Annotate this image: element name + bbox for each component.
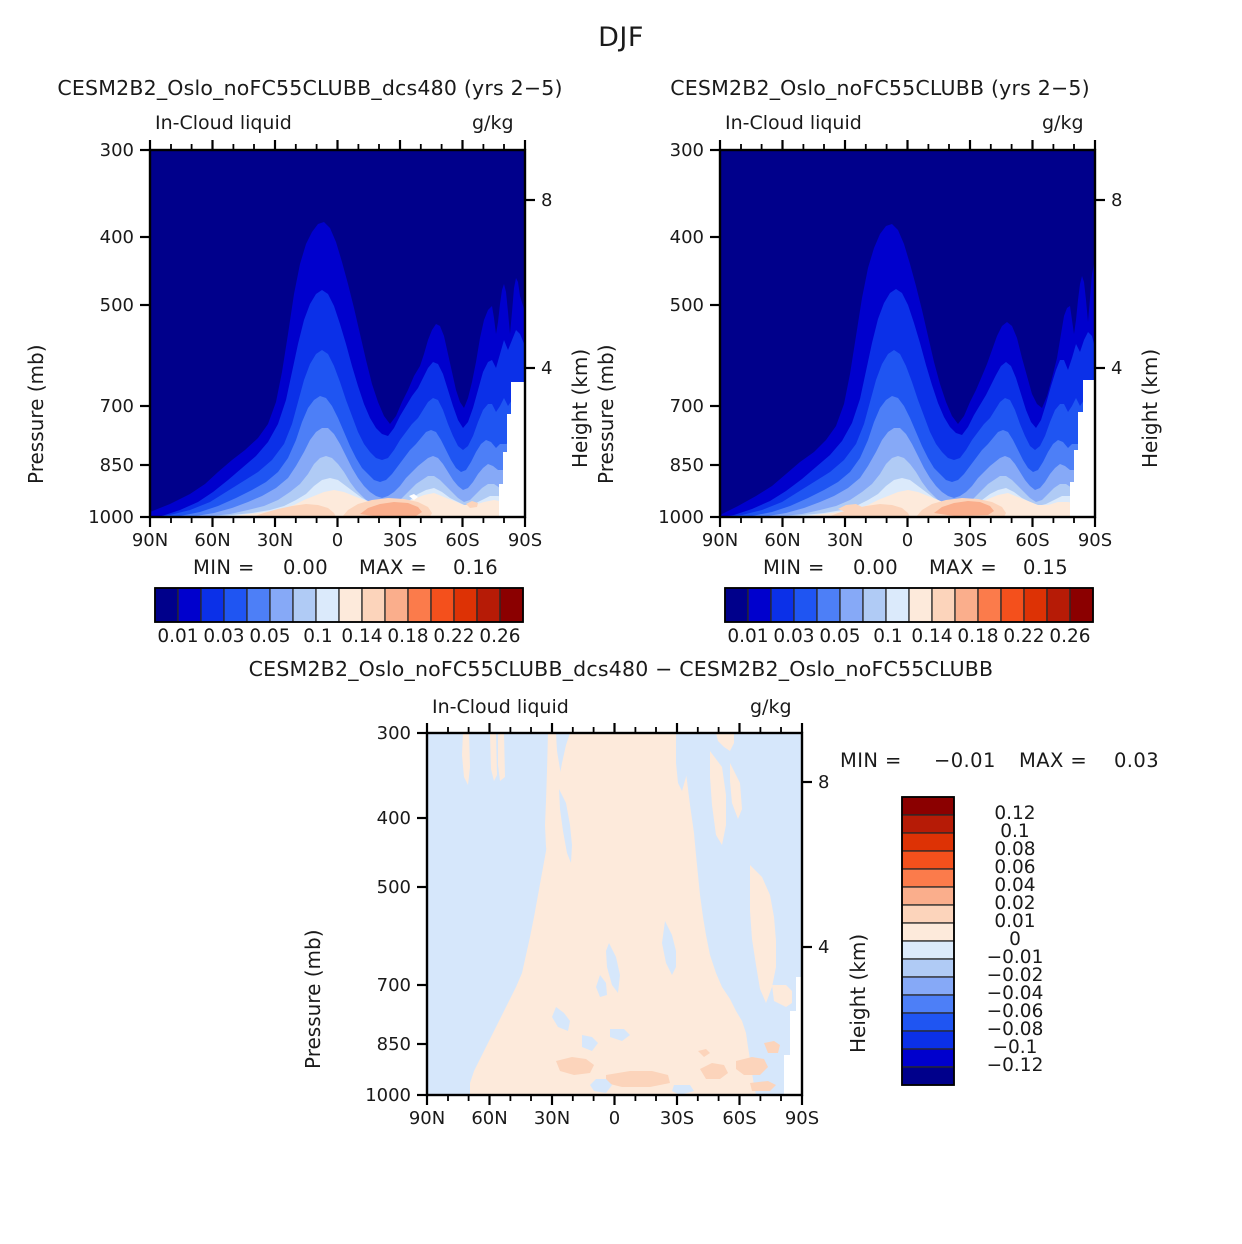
colorbar-top-right-swatch-14[interactable] xyxy=(1047,588,1070,622)
xtick-label-30s-top-right: 30S xyxy=(940,532,1000,550)
colorbar-top-right-swatch-3[interactable] xyxy=(794,588,817,622)
cb-label-7-top-left: 0.26 xyxy=(477,628,523,647)
colorbar-difference-swatch-2[interactable] xyxy=(902,833,954,851)
colorbar-top-right-swatch-11[interactable] xyxy=(978,588,1001,622)
colorbar-top-left-swatch-1[interactable] xyxy=(178,588,201,622)
max-value-top-left: 0.16 xyxy=(453,558,498,578)
cb-label-6-top-right: 0.22 xyxy=(1001,628,1047,647)
min-value-difference: −0.01 xyxy=(934,751,996,771)
max-value-top-right: 0.15 xyxy=(1023,558,1068,578)
colorbar-difference-swatch-9[interactable] xyxy=(902,959,954,977)
ytick-label-1000-top-left: 1000 xyxy=(88,509,134,527)
min-value-top-right: 0.00 xyxy=(853,558,898,578)
panel-difference: CESM2B2_Oslo_noFC55CLUBB_dcs480 − CESM2B… xyxy=(0,655,1242,1155)
xtick-label-90n-difference: 90N xyxy=(397,1110,457,1128)
max-label-top-left: MAX = xyxy=(359,558,427,578)
cb-label-4-top-right: 0.14 xyxy=(909,628,955,647)
colorbar-top-right-swatch-2[interactable] xyxy=(771,588,794,622)
colorbar-top-left-swatch-5[interactable] xyxy=(270,588,293,622)
xtick-label-30n-top-left: 30N xyxy=(245,532,305,550)
max-label-difference: MAX = xyxy=(1019,751,1087,771)
panel-top-right: CESM2B2_Oslo_noFC55CLUBB (yrs 2−5) In-Cl… xyxy=(570,72,1190,652)
colorbar-difference-swatch-10[interactable] xyxy=(902,977,954,995)
y2tick-label-8-top-left: 8 xyxy=(541,192,552,210)
ytick-label-850-top-left: 850 xyxy=(98,457,134,475)
max-label-top-right: MAX = xyxy=(929,558,997,578)
xtick-label-60s-difference: 60S xyxy=(710,1110,770,1128)
colorbar-difference-swatch-3[interactable] xyxy=(902,851,954,869)
xtick-label-60s-top-left: 60S xyxy=(433,532,493,550)
ytick-label-300-top-right: 300 xyxy=(668,142,704,160)
cb-label-0-top-left: 0.01 xyxy=(155,628,201,647)
colorbar-difference-swatch-1[interactable] xyxy=(902,815,954,833)
cb-label-7-top-right: 0.26 xyxy=(1047,628,1093,647)
ytick-label-1000-top-right: 1000 xyxy=(658,509,704,527)
min-label-top-right: MIN = xyxy=(763,558,825,578)
colorbar-top-right-swatch-9[interactable] xyxy=(932,588,955,622)
xtick-label-90s-top-left: 90S xyxy=(495,532,555,550)
colorbar-top-left[interactable] xyxy=(0,582,620,628)
colorbar-top-right-swatch-7[interactable] xyxy=(886,588,909,622)
ytick-label-500-top-right: 500 xyxy=(668,297,704,315)
xtick-label-0-top-right: 0 xyxy=(878,532,938,550)
cb-label-3-top-right: 0.1 xyxy=(865,628,911,647)
ytick-label-400-top-left: 400 xyxy=(98,229,134,247)
y2tick-label-8-difference: 8 xyxy=(818,774,829,792)
colorbar-top-right-swatch-4[interactable] xyxy=(817,588,840,622)
contour-plot-top-right[interactable] xyxy=(570,72,1190,552)
xtick-label-30s-top-left: 30S xyxy=(370,532,430,550)
cb-label-5-top-left: 0.18 xyxy=(385,628,431,647)
minmax-row-difference: MIN = −0.01 MAX = 0.03 xyxy=(840,751,1170,777)
xtick-label-60s-top-right: 60S xyxy=(1003,532,1063,550)
contour-plot-top-left[interactable] xyxy=(0,72,620,552)
colorbar-difference-swatch-11[interactable] xyxy=(902,995,954,1013)
cb-label-0-top-right: 0.01 xyxy=(725,628,771,647)
ytick-label-1000-difference: 1000 xyxy=(365,1087,411,1105)
cb-label-3-top-left: 0.1 xyxy=(295,628,341,647)
xtick-label-30n-top-right: 30N xyxy=(815,532,875,550)
xtick-label-0-difference: 0 xyxy=(585,1110,645,1128)
xtick-label-30n-difference: 30N xyxy=(522,1110,582,1128)
cb-label-1-top-right: 0.03 xyxy=(771,628,817,647)
ytick-label-300-top-left: 300 xyxy=(98,142,134,160)
cb-label-14-difference: −0.12 xyxy=(960,1057,1070,1076)
cb-label-6-top-left: 0.22 xyxy=(431,628,477,647)
colorbar-top-left-swatch-11[interactable] xyxy=(408,588,431,622)
xtick-label-60n-top-left: 60N xyxy=(183,532,243,550)
colorbar-difference-swatch-5[interactable] xyxy=(902,887,954,905)
colorbar-top-left-swatch-0[interactable] xyxy=(155,588,178,622)
colorbar-labels-top-left: 0.01 0.03 0.05 0.1 0.14 0.18 0.22 0.26 xyxy=(0,628,620,654)
min-label-difference: MIN = xyxy=(840,751,902,771)
colorbar-difference-swatch-4[interactable] xyxy=(902,869,954,887)
colorbar-difference-swatch-15[interactable] xyxy=(902,1067,954,1085)
xtick-label-60n-difference: 60N xyxy=(460,1110,520,1128)
colorbar-top-right-swatch-0[interactable] xyxy=(725,588,748,622)
y2tick-label-4-difference: 4 xyxy=(818,939,829,957)
ytick-label-700-top-right: 700 xyxy=(668,398,704,416)
ytick-label-700-difference: 700 xyxy=(375,977,411,995)
colorbar-top-left-swatch-4[interactable] xyxy=(247,588,270,622)
min-value-top-left: 0.00 xyxy=(283,558,328,578)
colorbar-top-left-swatch-12[interactable] xyxy=(431,588,454,622)
colorbar-difference-swatch-14[interactable] xyxy=(902,1049,954,1067)
colorbar-difference-swatch-0[interactable] xyxy=(902,797,954,815)
xtick-label-90n-top-right: 90N xyxy=(690,532,750,550)
colorbar-top-left-swatch-9[interactable] xyxy=(362,588,385,622)
ytick-label-700-top-left: 700 xyxy=(98,398,134,416)
cb-label-2-top-left: 0.05 xyxy=(247,628,293,647)
colorbar-labels-top-right: 0.01 0.03 0.05 0.1 0.14 0.18 0.22 0.26 xyxy=(570,628,1190,654)
ytick-label-400-top-right: 400 xyxy=(668,229,704,247)
colorbar-difference-swatch-8[interactable] xyxy=(902,941,954,959)
colorbar-top-right-swatch-15[interactable] xyxy=(1070,588,1093,622)
xtick-label-60n-top-right: 60N xyxy=(753,532,813,550)
xtick-label-0-top-left: 0 xyxy=(308,532,368,550)
colorbar-top-left-swatch-14[interactable] xyxy=(477,588,500,622)
ytick-label-500-difference: 500 xyxy=(375,879,411,897)
colorbar-top-right-swatch-8[interactable] xyxy=(909,588,932,622)
colorbar-top-left-swatch-10[interactable] xyxy=(385,588,408,622)
min-label-top-left: MIN = xyxy=(193,558,255,578)
colorbar-top-left-swatch-6[interactable] xyxy=(293,588,316,622)
ytick-label-500-top-left: 500 xyxy=(98,297,134,315)
colorbar-top-right-swatch-12[interactable] xyxy=(1001,588,1024,622)
ytick-label-300-difference: 300 xyxy=(375,725,411,743)
colorbar-difference-swatch-13[interactable] xyxy=(902,1031,954,1049)
cb-label-5-top-right: 0.18 xyxy=(955,628,1001,647)
season-title: DJF xyxy=(0,24,1242,51)
ytick-label-850-difference: 850 xyxy=(375,1036,411,1054)
panel-top-left: CESM2B2_Oslo_noFC55CLUBB_dcs480 (yrs 2−5… xyxy=(0,72,620,652)
colorbar-labels-difference: 0.120.10.080.060.040.020.010−0.01−0.02−0… xyxy=(960,795,1100,1105)
y2tick-label-4-top-left: 4 xyxy=(541,360,552,378)
y2tick-label-8-top-right: 8 xyxy=(1111,192,1122,210)
cb-label-2-top-right: 0.05 xyxy=(817,628,863,647)
colorbar-top-right-swatch-10[interactable] xyxy=(955,588,978,622)
colorbar-top-right-swatch-6[interactable] xyxy=(863,588,886,622)
colorbar-top-left-swatch-3[interactable] xyxy=(224,588,247,622)
colorbar-difference-swatch-7[interactable] xyxy=(902,923,954,941)
cb-label-4-top-left: 0.14 xyxy=(339,628,385,647)
colorbar-top-left-swatch-13[interactable] xyxy=(454,588,477,622)
colorbar-top-left-swatch-8[interactable] xyxy=(339,588,362,622)
colorbar-difference-swatch-12[interactable] xyxy=(902,1013,954,1031)
colorbar-top-left-swatch-2[interactable] xyxy=(201,588,224,622)
xtick-label-90s-difference: 90S xyxy=(772,1110,832,1128)
colorbar-difference-swatch-6[interactable] xyxy=(902,905,954,923)
cb-label-1-top-left: 0.03 xyxy=(201,628,247,647)
colorbar-top-right[interactable] xyxy=(570,582,1190,628)
colorbar-top-right-swatch-1[interactable] xyxy=(748,588,771,622)
colorbar-top-left-swatch-7[interactable] xyxy=(316,588,339,622)
ytick-label-400-difference: 400 xyxy=(375,810,411,828)
colorbar-top-right-swatch-13[interactable] xyxy=(1024,588,1047,622)
colorbar-top-left-swatch-15[interactable] xyxy=(500,588,523,622)
xtick-label-30s-difference: 30S xyxy=(647,1110,707,1128)
ytick-label-850-top-right: 850 xyxy=(668,457,704,475)
y2tick-label-4-top-right: 4 xyxy=(1111,360,1122,378)
colorbar-top-right-swatch-5[interactable] xyxy=(840,588,863,622)
max-value-difference: 0.03 xyxy=(1114,751,1159,771)
xtick-label-90n-top-left: 90N xyxy=(120,532,180,550)
xtick-label-90s-top-right: 90S xyxy=(1065,532,1125,550)
